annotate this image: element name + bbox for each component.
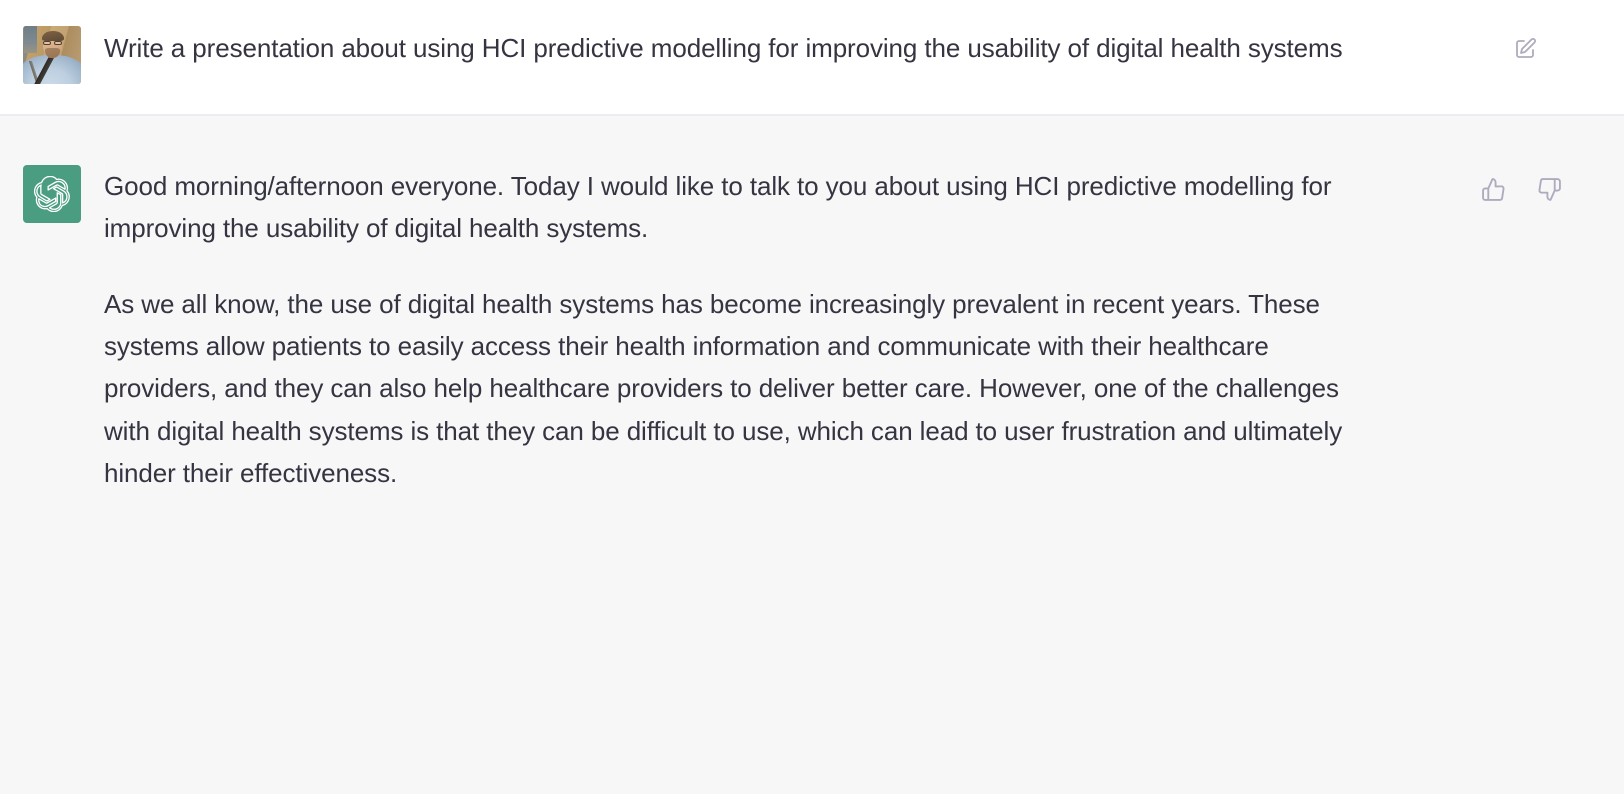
message-assistant-inner: Good morning/afternoon everyone. Today I… (0, 116, 1624, 524)
avatar-glasses (43, 41, 62, 46)
thumbs-up-button[interactable] (1478, 174, 1508, 204)
avatar-glasses-left-lens (43, 41, 50, 46)
assistant-avatar-column (0, 165, 104, 223)
user-message-paragraph: Write a presentation about using HCI pre… (104, 26, 1374, 71)
message-user: Write a presentation about using HCI pre… (0, 0, 1624, 116)
chatgpt-logo-icon (23, 165, 81, 223)
edit-icon (1513, 37, 1537, 61)
thumbs-up-icon (1481, 177, 1506, 202)
assistant-message-body: Good morning/afternoon everyone. Today I… (104, 165, 1624, 494)
thumbs-down-button[interactable] (1534, 174, 1564, 204)
user-avatar-column (0, 26, 104, 84)
user-avatar-photo (23, 26, 81, 84)
avatar-bag-strap-dark (31, 57, 65, 84)
thumbs-down-icon (1537, 177, 1562, 202)
conversation-thread: Write a presentation about using HCI pre… (0, 0, 1624, 794)
avatar-glasses-right-lens (54, 41, 61, 46)
message-user-inner: Write a presentation about using HCI pre… (0, 0, 1624, 114)
user-message-body: Write a presentation about using HCI pre… (104, 26, 1624, 71)
edit-message-button[interactable] (1510, 34, 1540, 64)
user-message-actions (1510, 34, 1540, 64)
assistant-message-paragraph-2: As we all know, the use of digital healt… (104, 283, 1374, 494)
message-assistant: Good morning/afternoon everyone. Today I… (0, 116, 1624, 794)
assistant-message-paragraph-1: Good morning/afternoon everyone. Today I… (104, 165, 1374, 249)
assistant-message-actions (1478, 174, 1564, 204)
